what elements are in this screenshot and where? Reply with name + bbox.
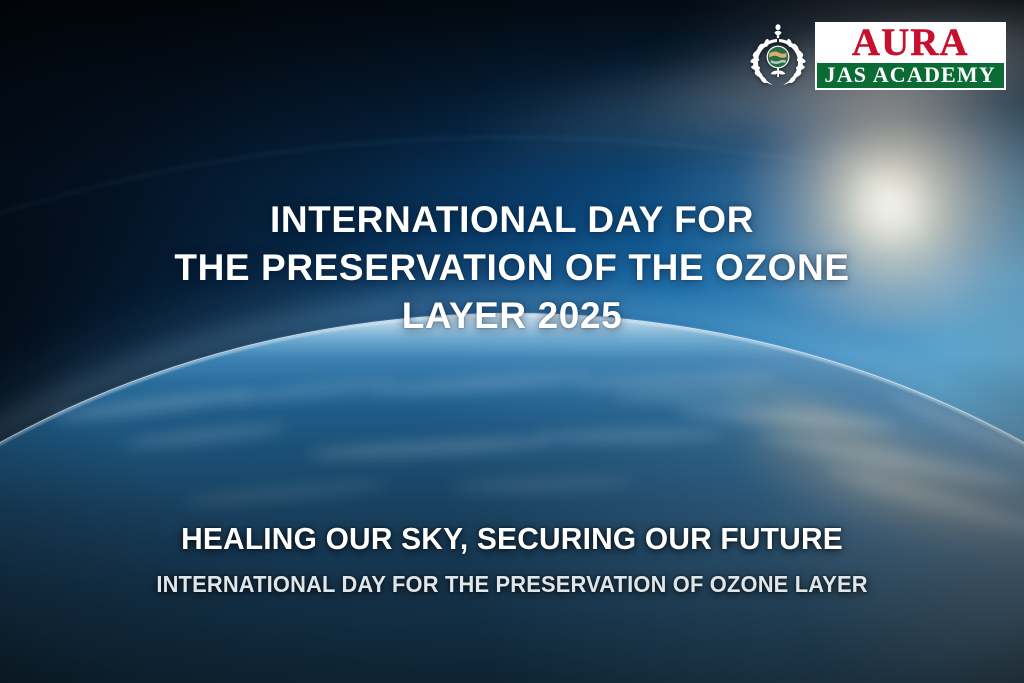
- laurel-wreath-globe-crest-icon: [747, 23, 809, 89]
- logo-brand-top-plate: AURA: [815, 22, 1007, 62]
- logo-wordmark: AURA JAS ACADEMY: [815, 22, 1007, 90]
- aura-jas-academy-logo[interactable]: AURA JAS ACADEMY: [747, 22, 1007, 90]
- poster-canvas: AURA JAS ACADEMY INTERNATIONAL DAY FOR T…: [0, 0, 1024, 683]
- logo-brand-bottom-plate: JAS ACADEMY: [815, 61, 1007, 90]
- logo-brand-top-text: AURA: [826, 24, 996, 61]
- subline-text: INTERNATIONAL DAY FOR THE PRESERVATION O…: [45, 572, 980, 597]
- poster-tagline-block: HEALING OUR SKY, SECURING OUR FUTURE INT…: [0, 522, 1024, 597]
- tagline-text: HEALING OUR SKY, SECURING OUR FUTURE: [37, 522, 987, 557]
- poster-title: INTERNATIONAL DAY FOR THE PRESERVATION O…: [0, 196, 1024, 340]
- title-line-1: INTERNATIONAL DAY FOR: [28, 196, 996, 244]
- title-line-2: THE PRESERVATION OF THE OZONE: [28, 244, 996, 292]
- logo-brand-bottom-text: JAS ACADEMY: [825, 64, 997, 86]
- title-line-3: LAYER 2025: [28, 292, 996, 340]
